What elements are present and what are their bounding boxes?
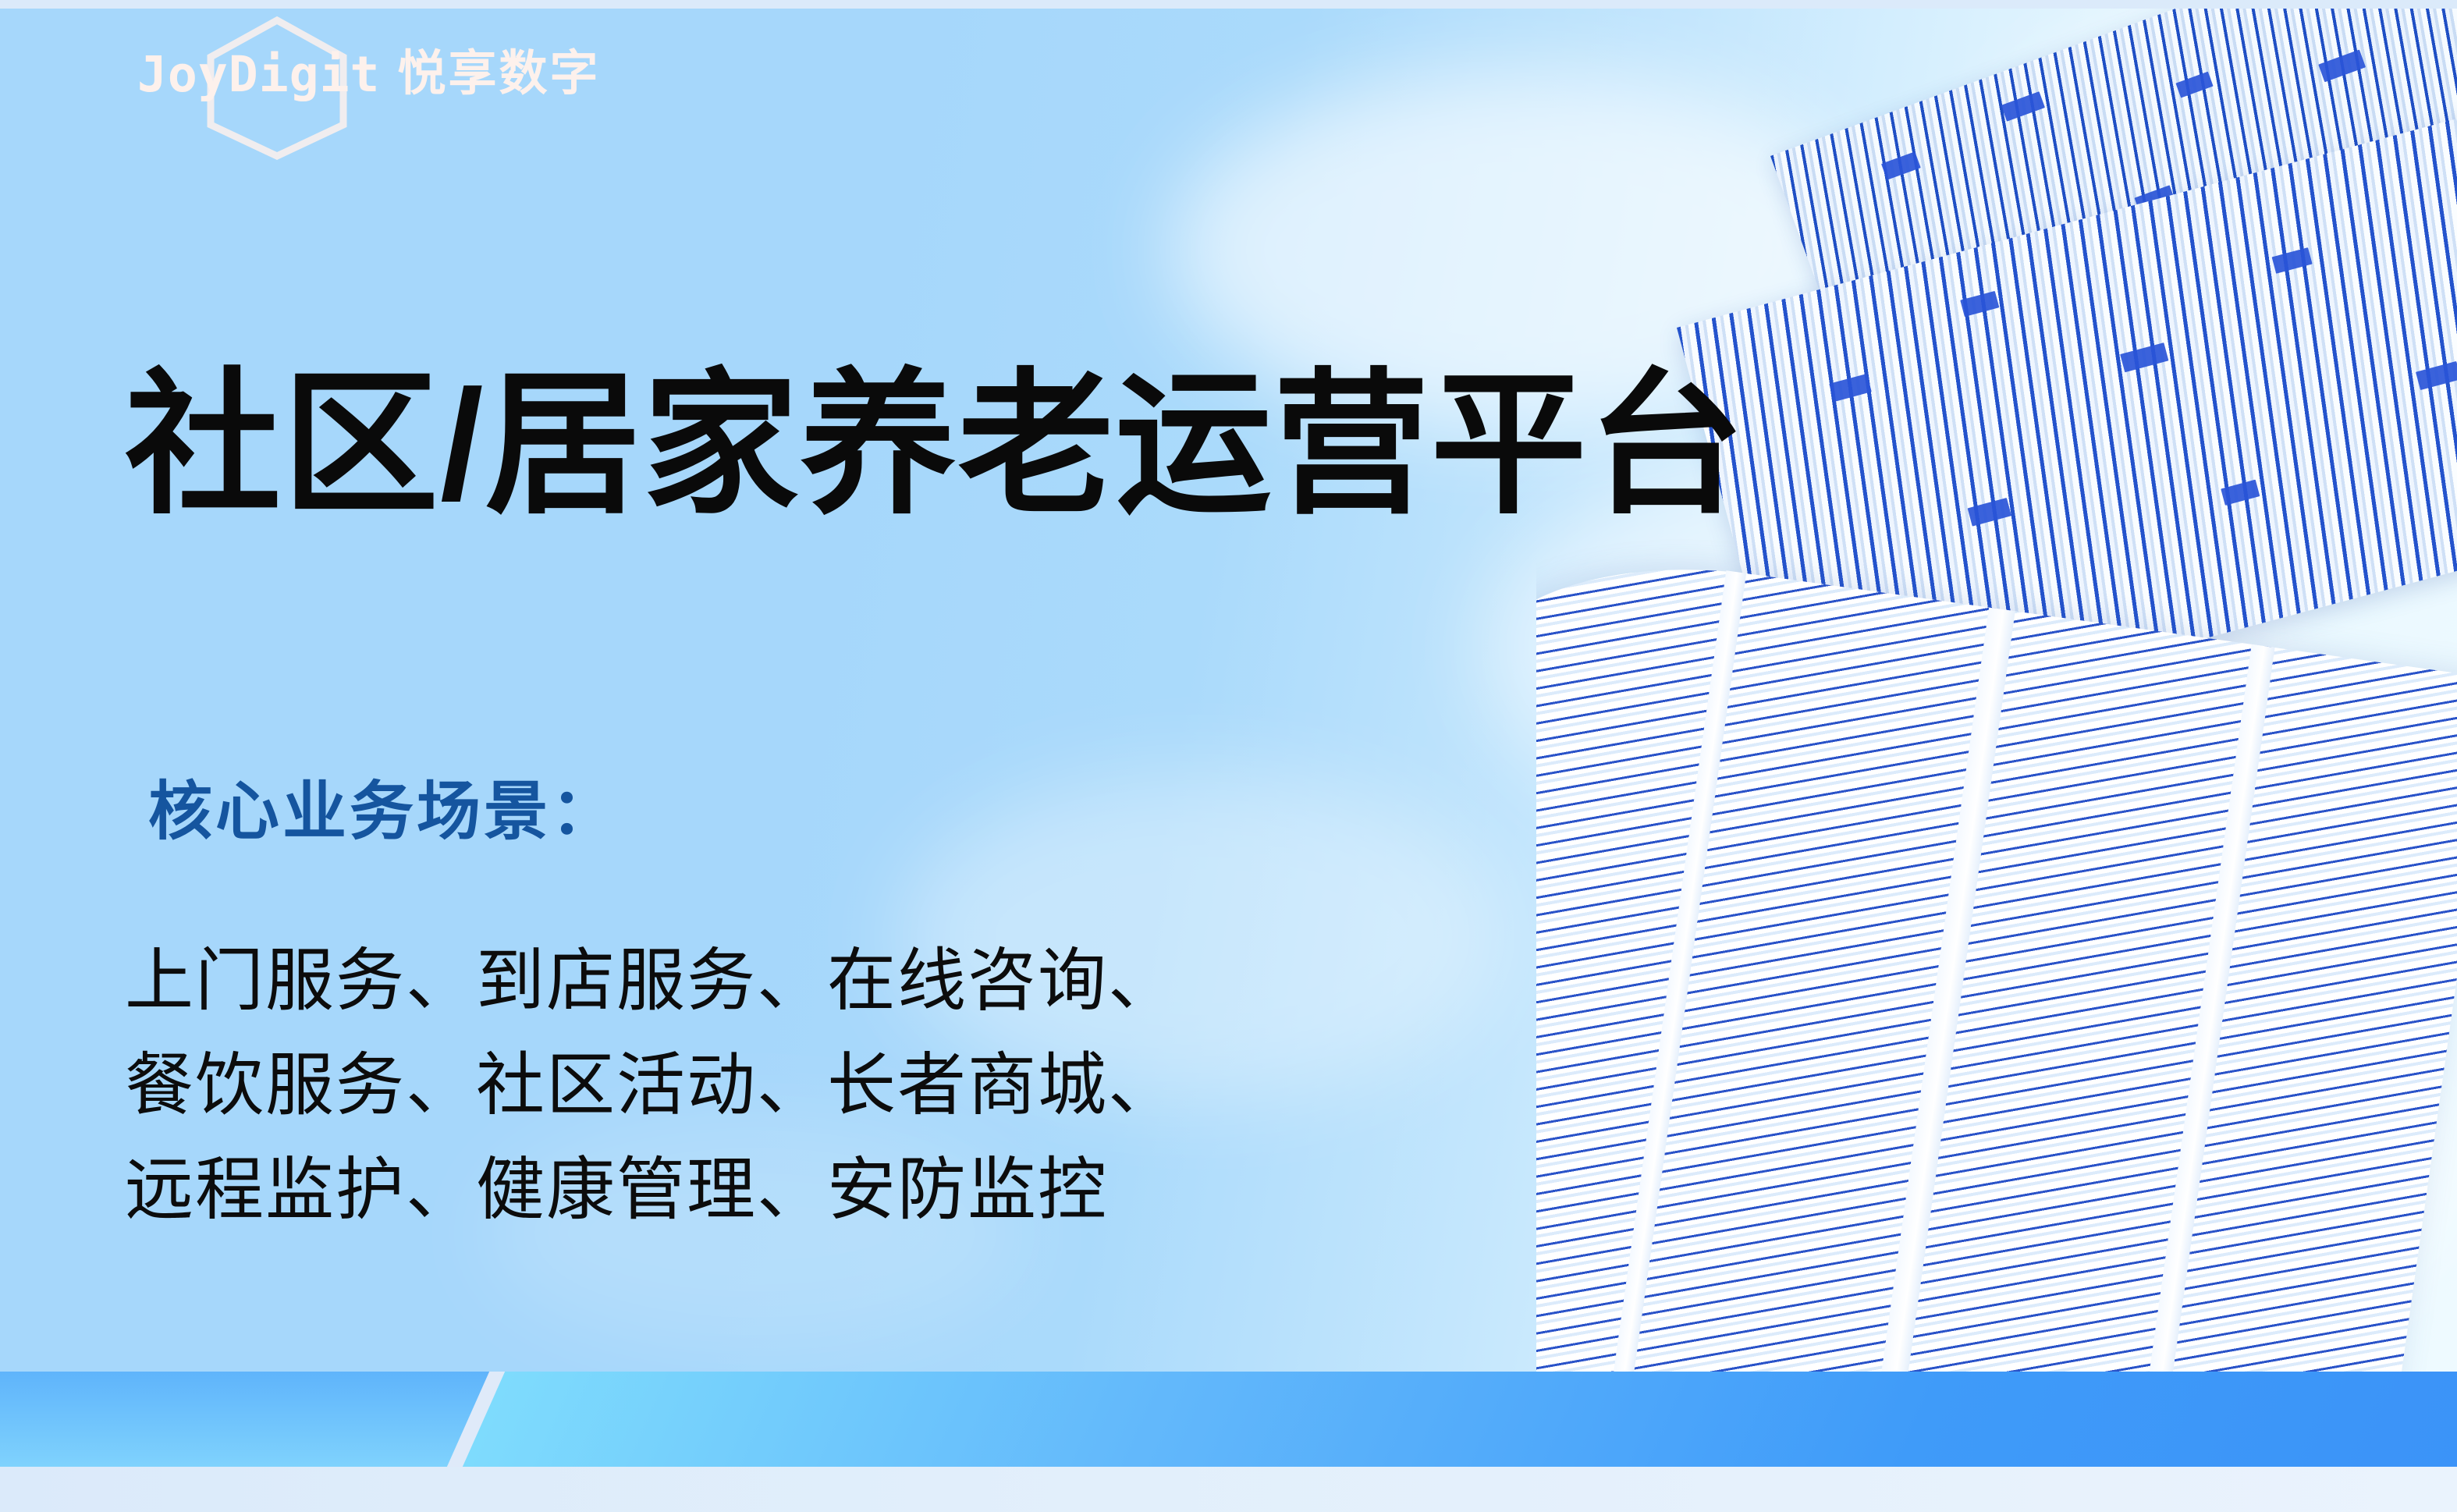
- skyscraper-artwork: [1536, 0, 2457, 1467]
- brand-logo-chinese: 悦享数字: [397, 50, 600, 98]
- slide-canvas: JoyDigit 悦享数字 社区/居家养老运营平台 核心业务场景： 上门服务、到…: [0, 0, 2457, 1512]
- curved-white-tower: [1536, 538, 2457, 1467]
- core-scenes-list: 上门服务、到店服务、在线咨询、 餐饮服务、社区活动、长者商城、 远程监护、健康管…: [125, 928, 1178, 1241]
- core-scenes-line: 上门服务、到店服务、在线咨询、: [125, 928, 1178, 1033]
- core-scenes-line: 餐饮服务、社区活动、长者商城、: [125, 1033, 1178, 1138]
- ribbon-right-bar: [447, 1372, 2457, 1467]
- top-rail: [0, 0, 2457, 9]
- core-scenes-line: 远程监护、健康管理、安防监控: [125, 1138, 1178, 1242]
- brand-logo-latin: JoyDigit: [137, 50, 380, 99]
- brand-logo[interactable]: JoyDigit 悦享数字: [137, 31, 600, 117]
- bottom-rail: [0, 1467, 2457, 1512]
- page-title: 社区/居家养老运营平台: [125, 364, 1746, 527]
- ribbon-left-bar: [0, 1372, 489, 1467]
- bottom-ribbon: [0, 1372, 2457, 1467]
- core-scenes-label: 核心业务场景：: [148, 780, 618, 844]
